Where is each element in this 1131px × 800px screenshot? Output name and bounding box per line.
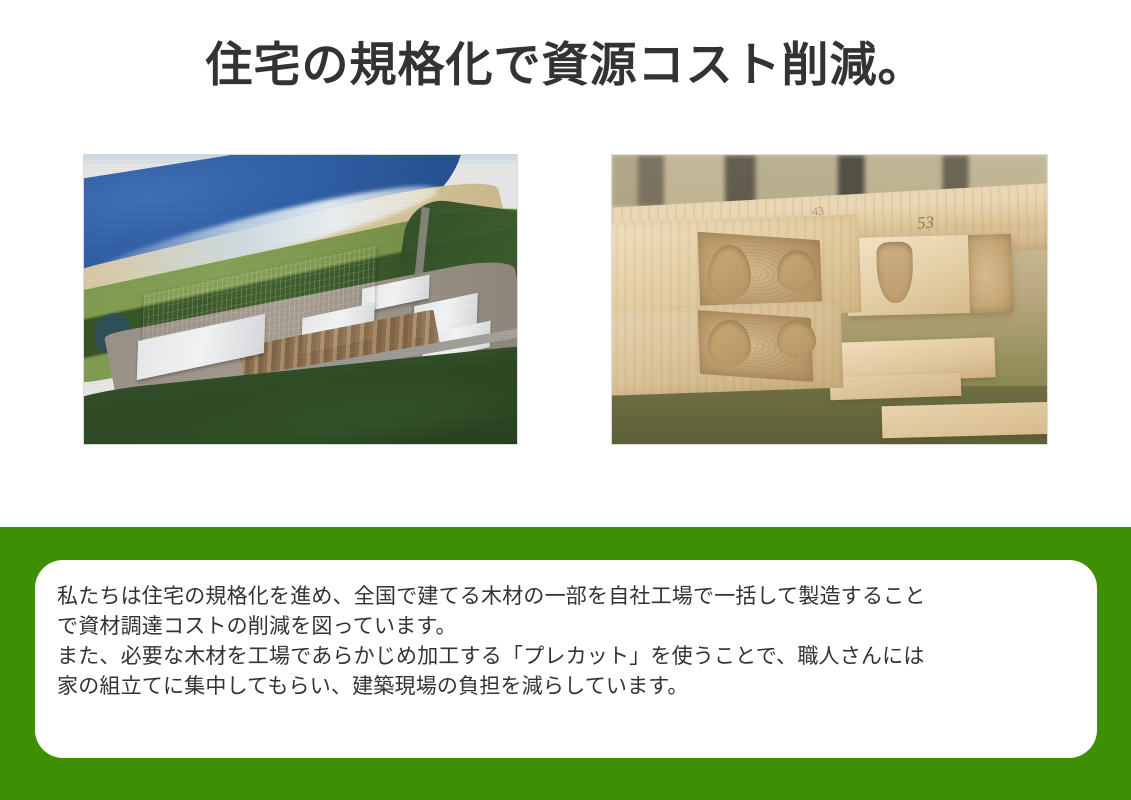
aerial-factory-artwork bbox=[84, 155, 517, 444]
timber-marking: 53 bbox=[916, 212, 934, 233]
description-card: 私たちは住宅の規格化を進め、全国で建てる木材の一部を自社工場で一括して製造するこ… bbox=[35, 560, 1097, 758]
page-title: 住宅の規格化で資源コスト削減。 bbox=[0, 38, 1131, 92]
timber-beam-right bbox=[846, 234, 1013, 316]
green-banner: 私たちは住宅の規格化を進め、全国で建てる木材の一部を自社工場で一括して製造するこ… bbox=[0, 527, 1131, 800]
precut-timber-photo: 43 53 bbox=[612, 155, 1047, 444]
description-line-4: 家の組立てに集中してもらい、建築現場の負担を減らしています。 bbox=[57, 672, 1079, 702]
description-line-3: また、必要な木材を工場であらかじめ加工する「プレカット」を使うことで、職人さんに… bbox=[57, 642, 1079, 672]
description-line-2: で資材調達コストの削減を図っています。 bbox=[57, 612, 1079, 642]
description-line-1: 私たちは住宅の規格化を進め、全国で建てる木材の一部を自社工場で一括して製造するこ… bbox=[57, 582, 1079, 612]
aerial-factory-photo bbox=[84, 155, 517, 444]
description-text: 私たちは住宅の規格化を進め、全国で建てる木材の一部を自社工場で一括して製造するこ… bbox=[57, 582, 1079, 702]
precut-timber-artwork: 43 53 bbox=[612, 155, 1047, 444]
slide-root: 住宅の規格化で資源コスト削減。 bbox=[0, 0, 1131, 800]
